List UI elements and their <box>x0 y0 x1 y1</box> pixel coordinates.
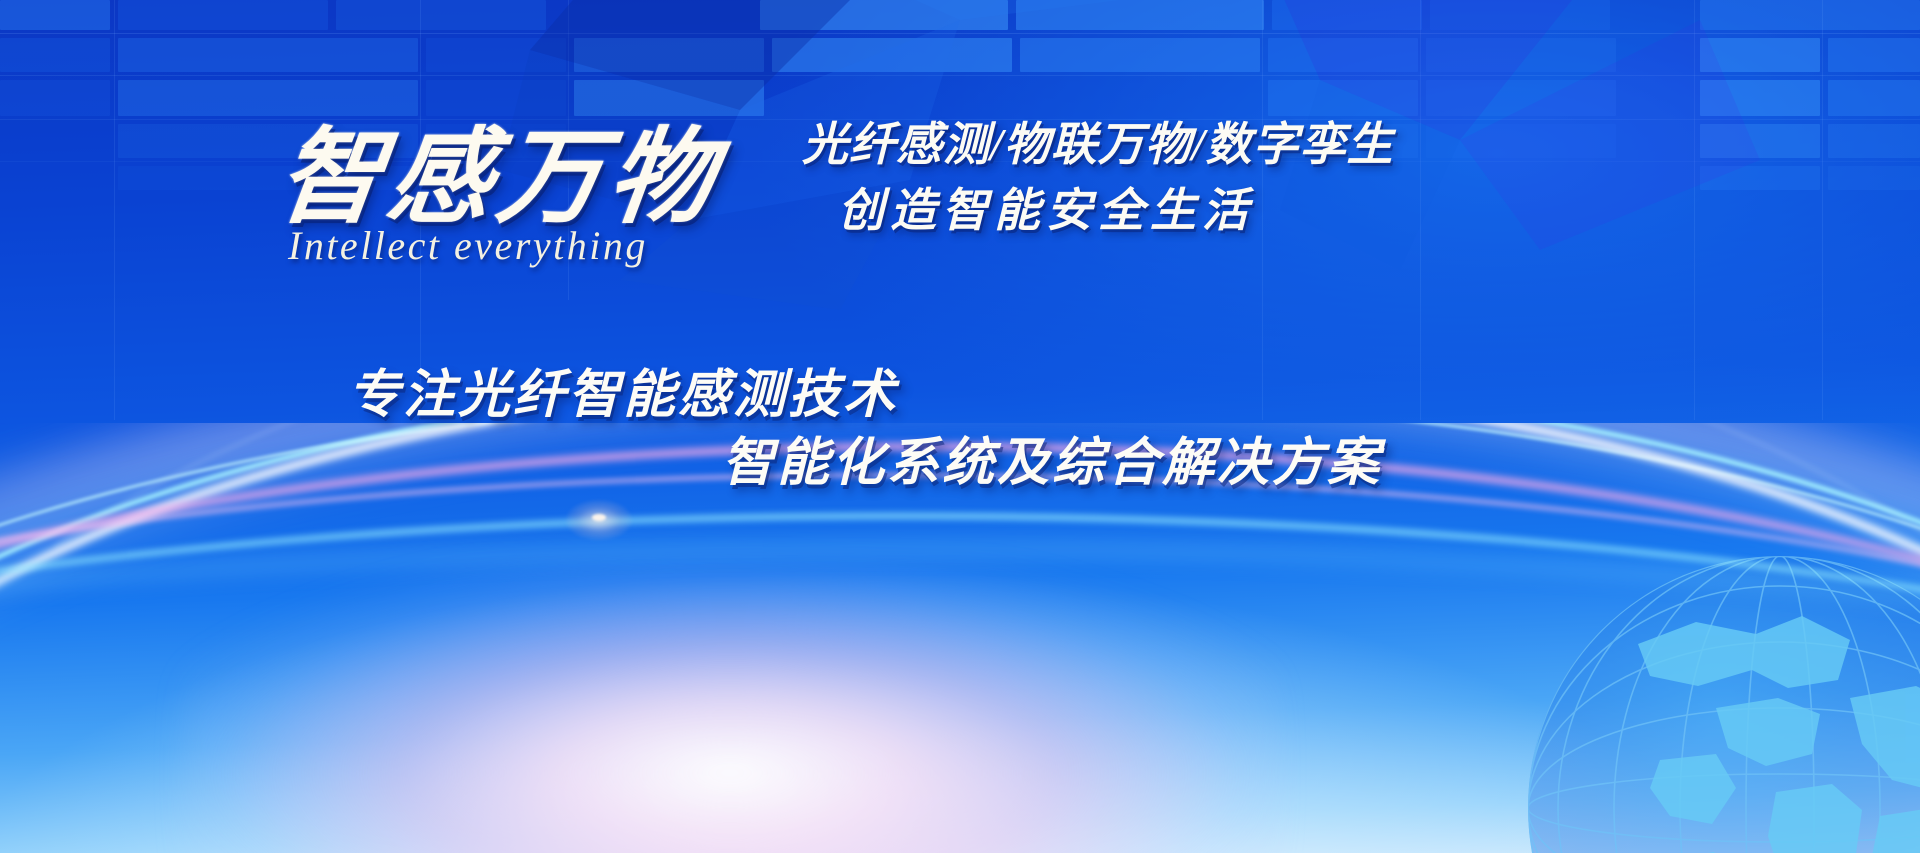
promotional-banner: 智感万物 Intellect everything 光纤感测/物联万物/数字孪生… <box>0 0 1920 853</box>
slogan-line-2: 创造智能安全生活 <box>838 174 1254 240</box>
swoosh-glow-core <box>180 563 1280 853</box>
tagline-line-1: 专注光纤智能感测技术 <box>348 352 898 427</box>
lens-flare-core-icon <box>592 514 606 521</box>
swoosh-arc-pink-2 <box>0 473 1920 853</box>
slogan-line-1: 光纤感测/物联万物/数字孪生 <box>802 108 1394 174</box>
tagline-line-2: 智能化系统及综合解决方案 <box>722 420 1382 495</box>
page-subtitle-en: Intellect everything <box>288 222 648 269</box>
wireframe-globe <box>1520 548 1920 853</box>
swoosh-arc-pink <box>0 443 1920 853</box>
page-title: 智感万物 <box>271 92 730 243</box>
globe-landmass <box>1638 616 1920 853</box>
lens-flare-icon <box>566 500 632 540</box>
swoosh-arc-deep <box>0 543 1920 853</box>
swoosh-arc-cyan-low <box>0 513 1920 853</box>
